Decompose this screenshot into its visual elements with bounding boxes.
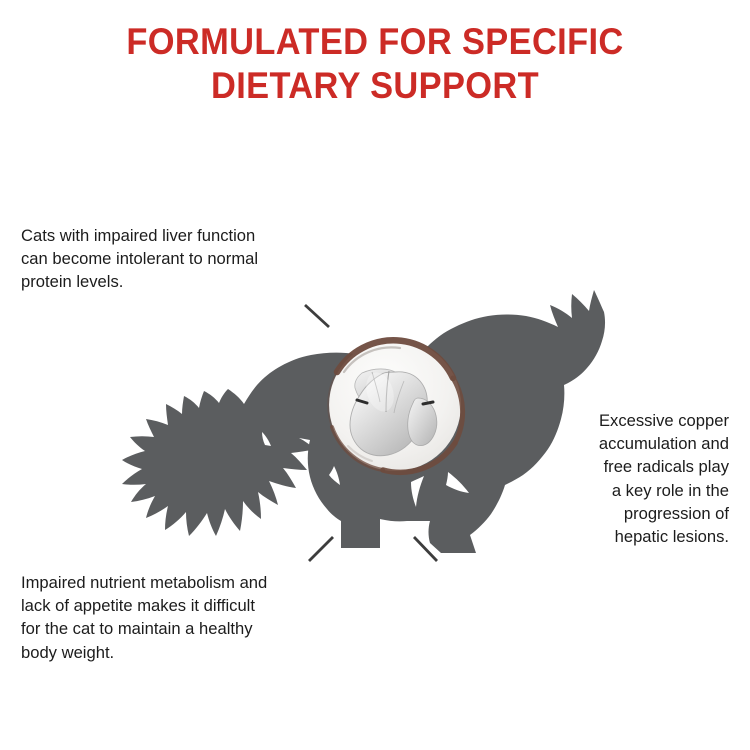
infographic-root: FORMULATED FOR SPECIFIC DIETARY SUPPORT <box>0 0 750 750</box>
leader-line-top-left <box>20 305 329 327</box>
callout-impaired-liver-function: Cats with impaired liver function can be… <box>21 224 351 294</box>
leader-line-bottom-left <box>20 537 333 561</box>
callout-copper-accumulation: Excessive copper accumulation and free r… <box>519 409 729 548</box>
callout-nutrient-metabolism: Impaired nutrient metabolism and lack of… <box>21 571 366 664</box>
